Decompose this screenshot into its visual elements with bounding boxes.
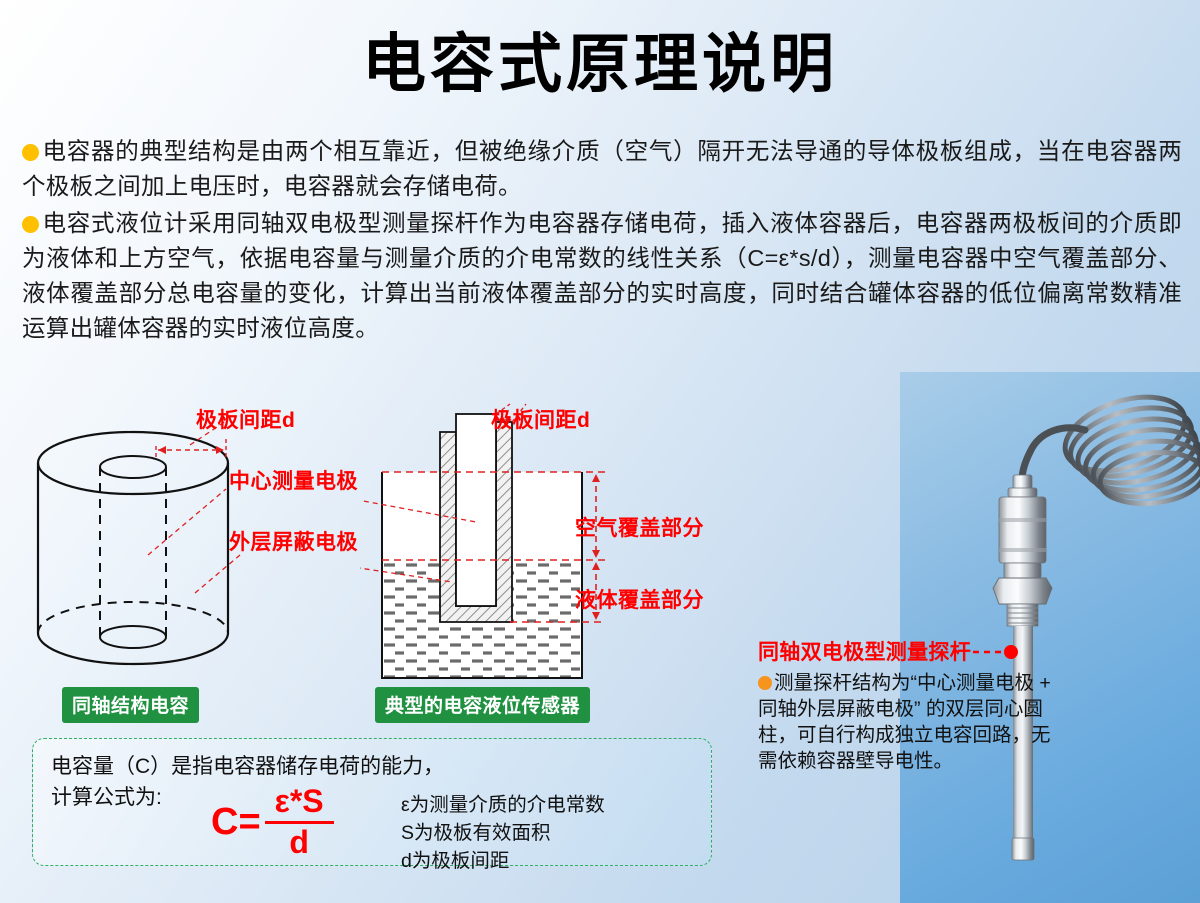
dash-leader-icon: [973, 641, 1019, 665]
label-shield-electrode: 外层屏蔽电极: [229, 526, 358, 556]
label-plate-gap-right: 极板间距d: [491, 404, 590, 434]
bullet-dot-icon: [22, 144, 39, 161]
formula-line-1: 电容量（C）是指电容器储存电荷的能力，: [51, 751, 444, 782]
capacitance-equation: C= ε*S d: [211, 785, 334, 859]
intro-paragraph-2: 电容式液位计采用同轴双电极型测量探杆作为电容器存储电荷，插入液体容器后，电容器两…: [22, 206, 1182, 346]
label-liquid-covered-part: 液体覆盖部分: [575, 584, 704, 614]
label-air-covered-part: 空气覆盖部分: [575, 512, 704, 542]
bullet-dot-icon: [22, 216, 39, 233]
equation-fraction: ε*S d: [265, 785, 334, 859]
label-plate-gap-left: 极板间距d: [196, 404, 295, 434]
caption-coaxial-capacitor: 同轴结构电容: [62, 687, 199, 723]
probe-title-text: 同轴双电极型测量探杆: [758, 641, 971, 664]
equation-denominator: d: [265, 821, 334, 860]
legend-item-epsilon: ε为测量介质的介电常数: [401, 791, 605, 819]
equation-numerator: ε*S: [265, 785, 334, 821]
capacitive-level-sensor-figure: [360, 400, 610, 695]
formula-legend: ε为测量介质的介电常数 S为极板有效面积 d为极板间距: [401, 791, 605, 875]
page-root: 电容式原理说明 电容器的典型结构是由两个相互靠近，但被绝缘介质（空气）隔开无法导…: [0, 0, 1200, 903]
probe-description-block: 同轴双电极型测量探杆 测量探杆结构为“中心测量电极 + 同轴外层屏蔽电极” 的双…: [758, 636, 1058, 774]
page-title: 电容式原理说明: [0, 28, 1200, 102]
intro-section: 电容器的典型结构是由两个相互靠近，但被绝缘介质（空气）隔开无法导通的导体极板组成…: [22, 134, 1182, 348]
equation-lhs: C=: [211, 803, 261, 841]
label-center-electrode: 中心测量电极: [229, 465, 358, 495]
caption-typical-sensor: 典型的电容液位传感器: [375, 687, 590, 723]
intro-paragraph-1-text: 电容器的典型结构是由两个相互靠近，但被绝缘介质（空气）隔开无法导通的导体极板组成…: [22, 138, 1182, 199]
intro-paragraph-2-text: 电容式液位计采用同轴双电极型测量探杆作为电容器存储电荷，插入液体容器后，电容器两…: [22, 210, 1182, 341]
probe-description: 测量探杆结构为“中心测量电极 + 同轴外层屏蔽电极” 的双层同心圆柱，可自行构成…: [758, 670, 1054, 774]
legend-item-d: d为极板间距: [401, 847, 605, 875]
dash-leader-svg: [973, 645, 1019, 659]
probe-description-text: 测量探杆结构为“中心测量电极 + 同轴外层屏蔽电极” 的双层同心圆柱，可自行构成…: [758, 672, 1051, 772]
formula-box: 电容量（C）是指电容器储存电荷的能力， 计算公式为: C= ε*S d ε为测量…: [32, 738, 712, 866]
probe-title-row: 同轴双电极型测量探杆: [758, 636, 1058, 666]
legend-item-s: S为极板有效面积: [401, 819, 605, 847]
bullet-dot-icon: [758, 676, 772, 690]
intro-paragraph-1: 电容器的典型结构是由两个相互靠近，但被绝缘介质（空气）隔开无法导通的导体极板组成…: [22, 134, 1182, 204]
